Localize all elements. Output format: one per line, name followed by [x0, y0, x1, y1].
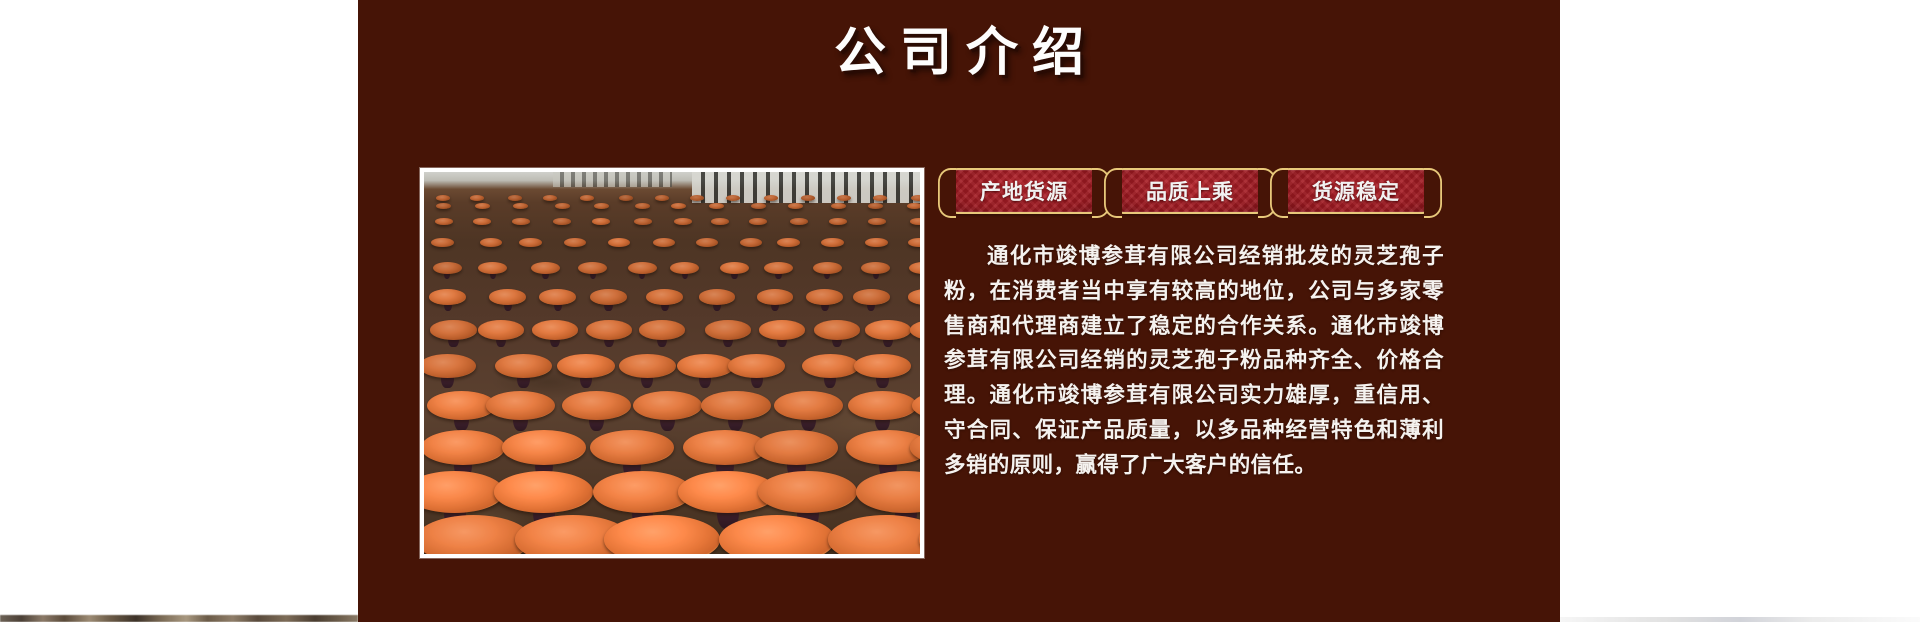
mushroom-cap: [594, 203, 609, 209]
mushroom-cap: [764, 262, 793, 274]
mushroom-cap: [801, 195, 815, 201]
photo-frame: [420, 168, 924, 558]
lingzhi-mushroom-farm-photo: [424, 172, 920, 554]
mushroom-cap: [431, 238, 454, 247]
mushroom-cap: [590, 289, 627, 304]
bottom-image-sliver-right: [1560, 617, 1920, 622]
feature-badge-label: 产地货源: [980, 176, 1068, 206]
page-root: 公司介绍 产地货源品质上乘货源稳定 通化市竣博参茸有限公司经销批发的灵芝孢子粉，…: [0, 0, 1920, 622]
mushroom-cap: [873, 195, 887, 201]
mushroom-cap: [711, 218, 729, 226]
title-container: 公司介绍: [358, 24, 1560, 84]
mushroom-cap: [821, 238, 844, 247]
mushroom-cap: [635, 203, 650, 209]
mushroom-cap: [436, 195, 450, 201]
mushroom-cap: [677, 354, 734, 378]
mushroom-cap: [562, 391, 632, 420]
mushroom-cap: [555, 203, 570, 209]
mushroom-cap: [633, 391, 703, 420]
mushroom-cap: [502, 430, 585, 465]
mushroom-cap: [690, 195, 704, 201]
feature-badge-label: 货源稳定: [1312, 176, 1400, 206]
mushroom-cap: [759, 320, 805, 339]
mushroom-cap: [473, 218, 491, 226]
mushroom-cap: [593, 471, 692, 513]
mushroom-cap: [578, 262, 607, 274]
mushroom-cap: [777, 238, 800, 247]
mushroom-cap: [557, 354, 614, 378]
mushroom-cap: [720, 262, 749, 274]
mushroom-cap: [848, 391, 918, 420]
mushroom-cap: [429, 289, 466, 304]
mushroom-cap: [865, 238, 888, 247]
mushroom-cap: [911, 195, 920, 201]
mushroom-cap: [806, 289, 843, 304]
mushroom-cap: [655, 195, 669, 201]
mushroom-cap: [619, 195, 633, 201]
mushroom-cap: [854, 354, 911, 378]
mushroom-cap: [519, 238, 542, 247]
mushroom-cap: [861, 262, 890, 274]
mushroom-cap: [646, 289, 683, 304]
page-title: 公司介绍: [820, 24, 1098, 84]
mushroom-cap: [671, 203, 686, 209]
company-intro-paragraph: 通化市竣博参茸有限公司经销批发的灵芝孢子粉，在消费者当中享有较高的地位，公司与多…: [944, 240, 1444, 484]
mushroom-cap: [590, 430, 673, 465]
mushroom-cap: [586, 320, 632, 339]
mushroom-cap: [494, 471, 593, 513]
mushroom-cap: [853, 289, 890, 304]
mushroom-cap: [728, 354, 785, 378]
mushroom-cap: [531, 262, 560, 274]
mushroom-cap: [604, 515, 720, 554]
mushroom-cap: [508, 195, 522, 201]
mushroom-cap: [865, 320, 911, 339]
mushroom-cap: [424, 430, 505, 465]
feature-badge-label: 品质上乘: [1146, 176, 1234, 206]
mushroom-cap: [478, 320, 524, 339]
company-intro-panel: 公司介绍 产地货源品质上乘货源稳定 通化市竣博参茸有限公司经销批发的灵芝孢子粉，…: [358, 0, 1560, 622]
mushroom-cap: [670, 262, 699, 274]
feature-badge-group: 产地货源品质上乘货源稳定: [944, 168, 1520, 214]
mushroom-cap: [486, 391, 556, 420]
mushroom-cap: [774, 391, 844, 420]
mushroom-cap: [726, 195, 740, 201]
text-column: 产地货源品质上乘货源稳定 通化市竣博参茸有限公司经销批发的灵芝孢子粉，在消费者当…: [944, 168, 1560, 484]
mushroom-cap: [719, 515, 835, 554]
mushroom-cap: [751, 203, 766, 209]
content-row: 产地货源品质上乘货源稳定 通化市竣博参茸有限公司经销批发的灵芝孢子粉，在消费者当…: [358, 168, 1560, 558]
mushroom-cap: [813, 262, 842, 274]
feature-badge[interactable]: 货源稳定: [1280, 168, 1432, 214]
mushroom-cap: [553, 218, 571, 226]
mushroom-cap: [478, 262, 507, 274]
mushroom-cap: [475, 203, 490, 209]
mushroom-cap: [868, 203, 883, 209]
mushroom-cap: [639, 320, 685, 339]
mushroom-cap: [592, 218, 610, 226]
mushroom-cap: [495, 354, 552, 378]
mushroom-cap: [628, 262, 657, 274]
mushroom-cap: [764, 195, 778, 201]
mushroom-cap: [699, 289, 736, 304]
mushroom-cap: [831, 203, 846, 209]
feature-badge[interactable]: 产地货源: [948, 168, 1100, 214]
photo-column: [358, 168, 944, 558]
mushroom-cap: [433, 262, 462, 274]
mushroom-cap: [430, 320, 476, 339]
mushroom-cap: [489, 289, 526, 304]
mushroom-cap: [790, 218, 808, 226]
mushroom-cap: [755, 430, 838, 465]
mushroom-cap: [513, 203, 528, 209]
mushroom-cap: [814, 320, 860, 339]
mushroom-cap: [829, 218, 847, 226]
mushroom-cap: [532, 320, 578, 339]
mushroom-cap: [802, 354, 859, 378]
mushroom-cap: [749, 218, 767, 226]
mushroom-cap: [512, 218, 530, 226]
mushroom-cap: [758, 471, 857, 513]
mushroom-cap: [619, 354, 676, 378]
mushroom-cap: [846, 430, 920, 465]
mushroom-cap: [580, 195, 594, 201]
bottom-image-sliver-left: [0, 615, 358, 622]
mushroom-cap: [543, 195, 557, 201]
mushroom-cap: [701, 391, 771, 420]
mushroom-cap: [788, 203, 803, 209]
mushroom-cap: [674, 218, 692, 226]
mushroom-cap: [436, 203, 451, 209]
mushroom-cap: [705, 320, 751, 339]
mushroom-cap: [757, 289, 794, 304]
mushroom-cap: [539, 289, 576, 304]
mushroom-cap: [907, 203, 920, 209]
feature-badge[interactable]: 品质上乘: [1114, 168, 1266, 214]
mushroom-cap: [837, 195, 851, 201]
mushroom-cap: [470, 195, 484, 201]
